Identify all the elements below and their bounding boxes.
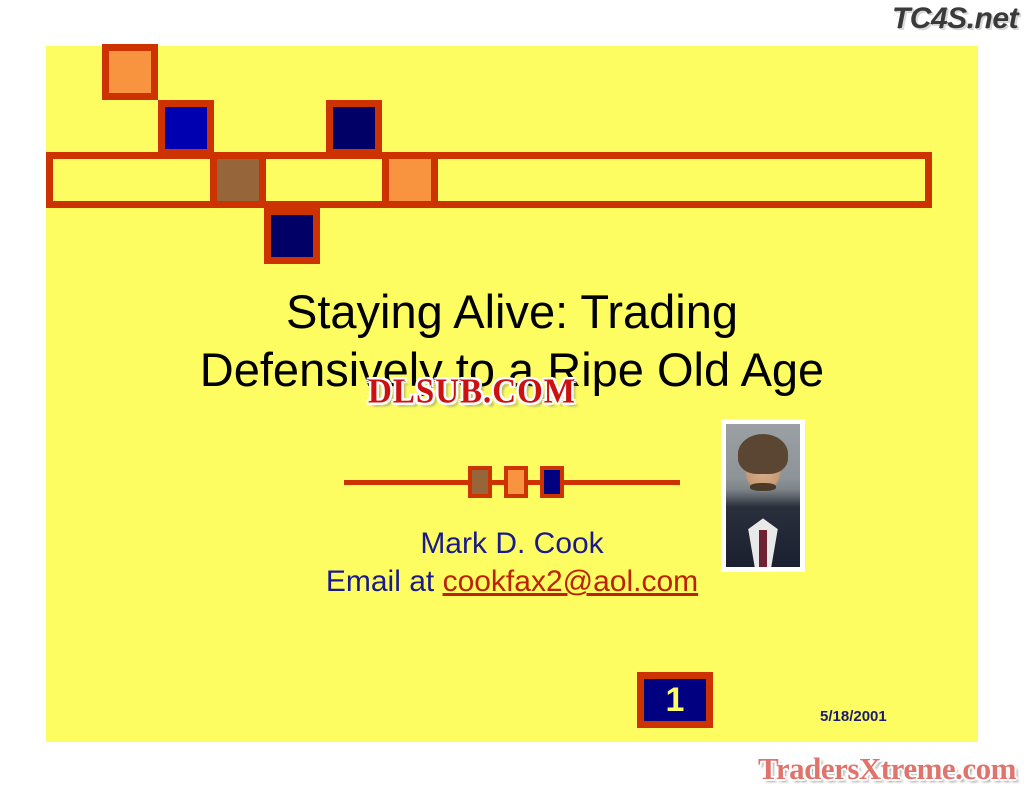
slide-date: 5/18/2001 <box>820 708 887 725</box>
divider-square-navy <box>540 466 564 498</box>
slide-title-line-1: Staying Alive: Trading <box>46 283 978 341</box>
presenter-photo-frame <box>721 419 805 572</box>
decorative-divider <box>344 462 680 502</box>
divider-square-brown <box>468 466 492 498</box>
presenter-photo <box>726 424 800 567</box>
decorative-square-blue-upper <box>158 100 214 156</box>
slide-byline: Mark D. Cook Email at cookfax2@aol.com <box>46 525 978 602</box>
dlsub-watermark: DLSUB.COM <box>368 373 576 412</box>
tc4s-watermark: TC4S.net <box>892 2 1018 36</box>
decorative-square-orange-top <box>102 44 158 100</box>
photo-moustache-region <box>750 483 777 492</box>
tradersxtreme-watermark: TradersXtreme.com <box>758 751 1016 787</box>
decorative-horizontal-bar <box>46 152 932 208</box>
email-link[interactable]: cookfax2@aol.com <box>443 565 699 598</box>
decorative-square-navy-lower <box>264 208 320 264</box>
decorative-bar-segment-orange <box>382 152 438 208</box>
divider-square-orange <box>504 466 528 498</box>
decorative-bar-segment-brown <box>210 152 266 208</box>
photo-hair-region <box>738 434 788 474</box>
page-number-badge: 1 <box>637 672 713 728</box>
photo-tie-region <box>759 530 768 567</box>
presenter-name: Mark D. Cook <box>46 525 978 563</box>
decorative-square-navy-upper <box>326 100 382 156</box>
email-line: Email at cookfax2@aol.com <box>46 563 978 601</box>
email-label: Email at <box>326 565 443 598</box>
